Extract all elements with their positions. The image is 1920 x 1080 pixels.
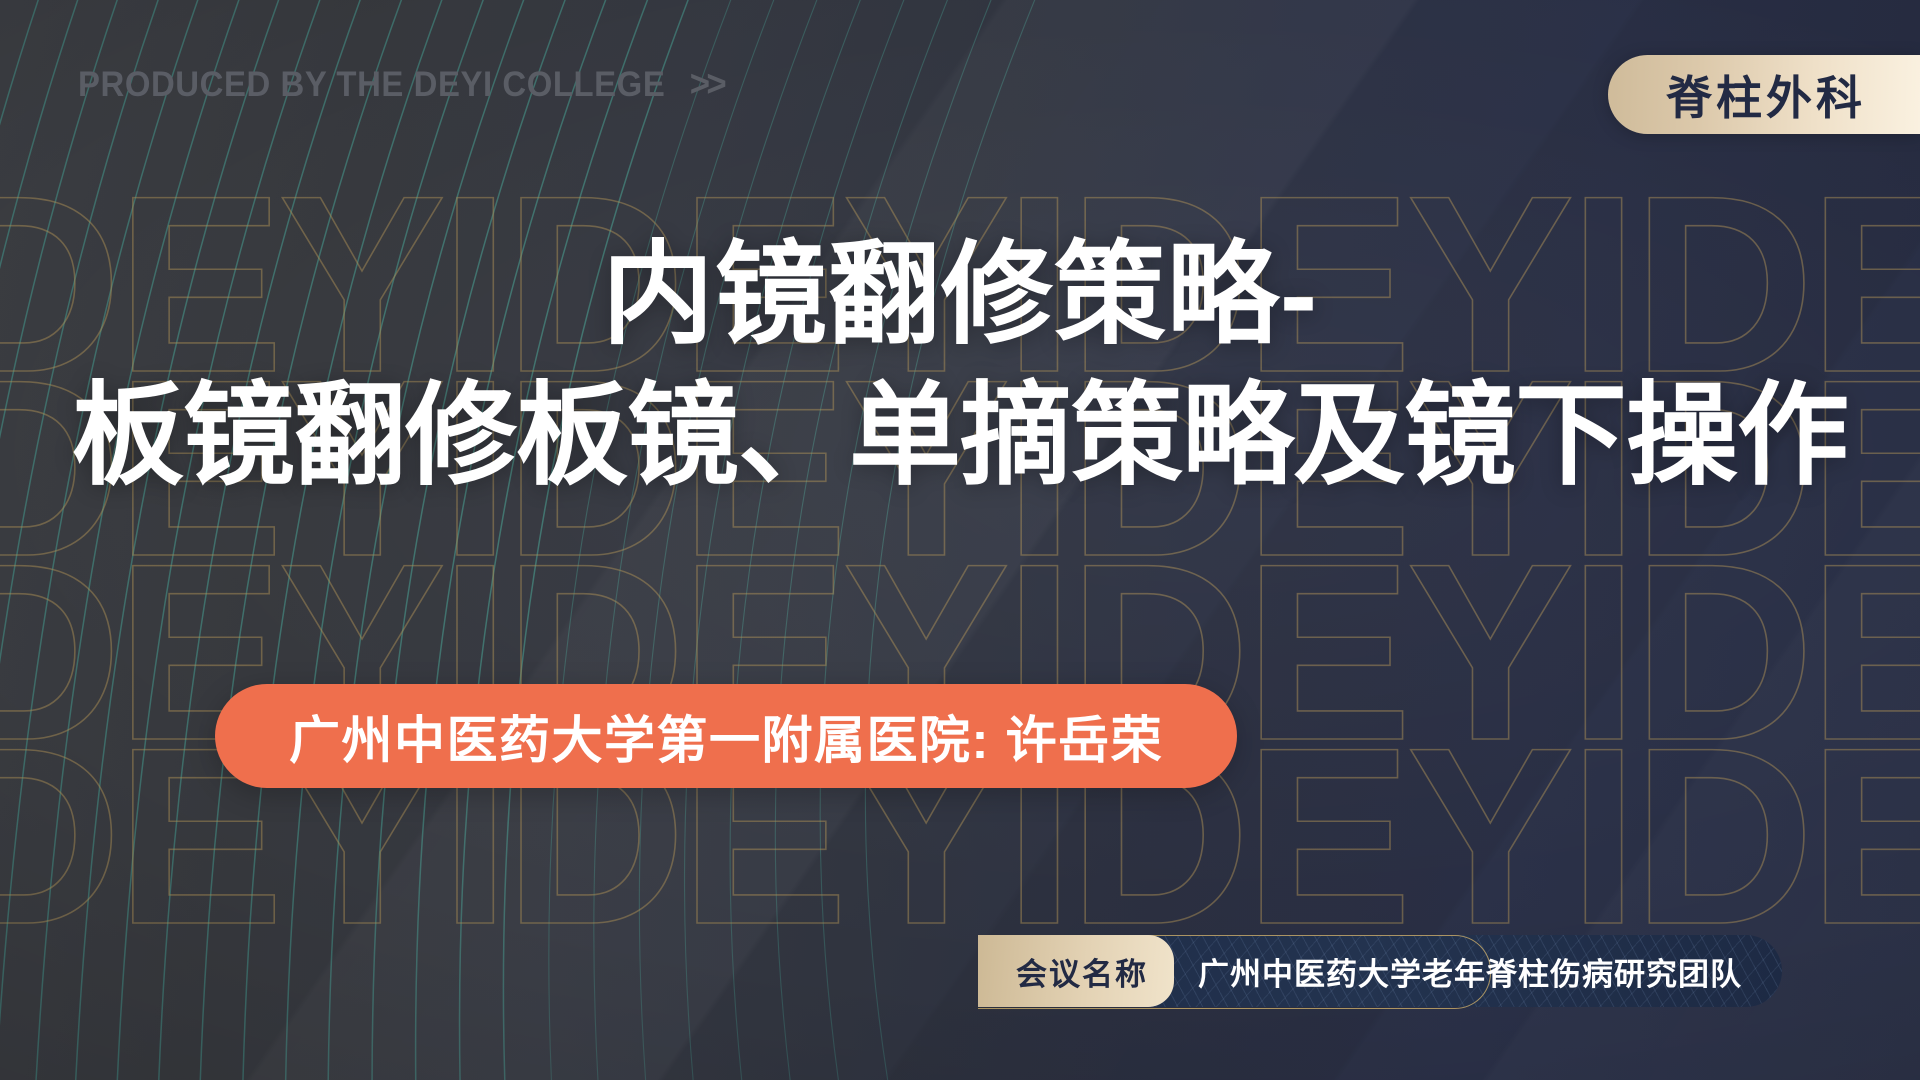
meeting-label-chip: 会议名称	[978, 935, 1174, 1007]
department-badge: 脊柱外科	[1608, 55, 1920, 134]
chevron-right-icon: >>	[690, 63, 723, 104]
meeting-label-text: 会议名称	[1016, 949, 1148, 994]
presentation-slide: DEYIDEYIDEYIDEYIDEYI DEYIDEYIDEYIDEYIDEY…	[0, 0, 1920, 1080]
title-line-2: 板镜翻修板镜、单摘策略及镜下操作	[0, 377, 1920, 496]
meeting-name-area: 广州中医药大学老年脊柱伤病研究团队	[1174, 935, 1782, 1007]
department-badge-label: 脊柱外科	[1666, 62, 1866, 128]
meeting-bar: 会议名称 广州中医药大学老年脊柱伤病研究团队	[978, 935, 1782, 1007]
slide-title: 内镜翻修策略- 板镜翻修板镜、单摘策略及镜下操作	[0, 236, 1920, 495]
producer-kicker: PRODUCED BY THE DEYI COLLEGE>>	[78, 63, 723, 105]
background-gradient	[0, 0, 1920, 1080]
title-line-1: 内镜翻修策略-	[0, 236, 1920, 355]
meeting-name-text: 广州中医药大学老年脊柱伤病研究团队	[1198, 949, 1742, 994]
producer-kicker-text: PRODUCED BY THE DEYI COLLEGE	[78, 65, 665, 104]
author-pill: 广州中医药大学第一附属医院: 许岳荣	[215, 684, 1237, 788]
author-pill-text: 广州中医药大学第一附属医院: 许岳荣	[289, 699, 1163, 773]
